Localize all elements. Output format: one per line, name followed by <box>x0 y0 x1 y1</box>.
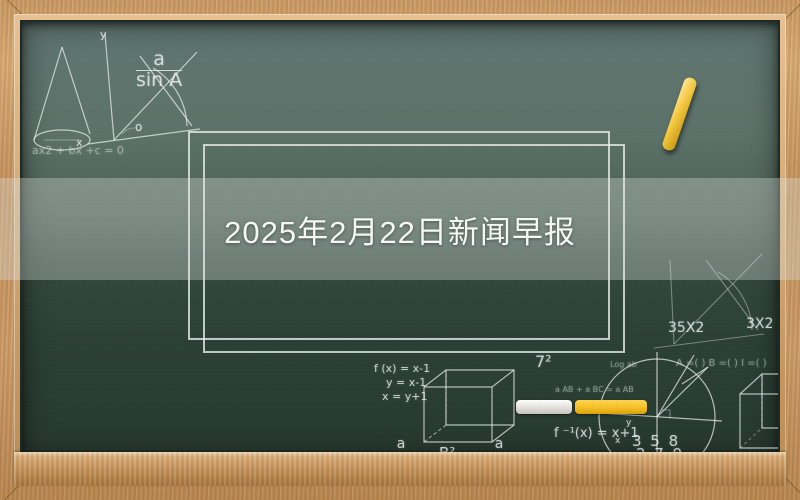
chalk-angle-label-top: o <box>135 120 142 134</box>
title-band: 2025年2月22日新闻早报 <box>0 178 800 280</box>
chalk-log-ab: Log ab <box>610 360 637 369</box>
chalk-mult-35x2: 35X2 <box>668 320 704 336</box>
chalk-axis-label-x-top: x <box>76 136 83 149</box>
screenshot-root: a sin A y x o ax2 + bx +c = 0 <box>0 0 800 500</box>
chalk-function-lines: f (x) = x-1 y = x-1 x = y+1 <box>374 362 430 404</box>
chalk-mult-3x2: 3X2 <box>746 316 773 332</box>
chalk-axis-label-x-right: x <box>615 436 620 446</box>
chalk-vector-identity: a AB + a BC = a AB <box>555 385 634 394</box>
chalk-quadratic-equation: ax2 + bx +c = 0 <box>32 144 124 157</box>
chalk-seven-squared: 7² <box>535 352 552 371</box>
white-chalk <box>516 400 572 414</box>
chalk-inverse-function: f ⁻¹(x) = x+1 <box>554 426 639 441</box>
chalk-fn-line-2: y = x-1 <box>374 376 430 390</box>
chalk-fraction-a-over-sinA-top: a sin A <box>136 50 182 91</box>
page-title: 2025年2月22日新闻早报 <box>224 207 576 252</box>
chalk-fn-line-1: f (x) = x-1 <box>374 362 430 376</box>
chalk-fn-line-3: x = y+1 <box>374 390 430 404</box>
chalk-matrices: A =( ) B =( ) I =( ) <box>676 358 767 369</box>
chalk-axis-label-y-right: y <box>626 418 631 428</box>
yellow-chalk <box>575 400 647 414</box>
chalk-axis-label-y-top: y <box>100 28 107 41</box>
chalk-tray-ledge <box>14 452 786 486</box>
chalk-sum-row-1: 3 5 8 <box>632 432 680 450</box>
